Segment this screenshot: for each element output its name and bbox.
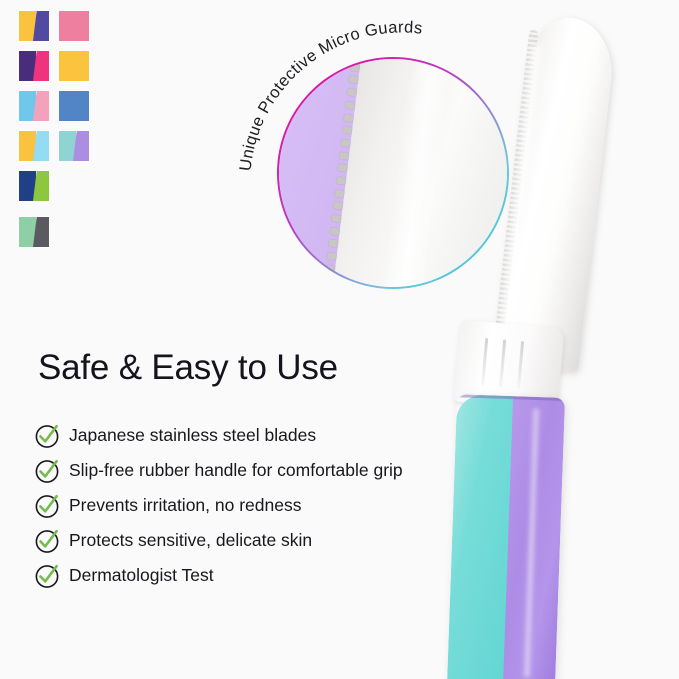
- swatch-right-fill: [33, 91, 49, 121]
- swatch-right-fill: [33, 217, 49, 247]
- micro-guard-bead: [328, 240, 338, 248]
- micro-guard-bead: [333, 202, 343, 210]
- micro-guard-bead: [334, 189, 344, 197]
- check-circle-icon: [34, 458, 60, 484]
- micro-guard-bead: [339, 152, 349, 160]
- swatch-fill: [19, 91, 49, 121]
- swatch-yellow[interactable]: [58, 50, 90, 82]
- swatch-fill: [59, 51, 89, 81]
- razor-product-photo: [440, 0, 679, 679]
- swatch-right-fill: [33, 171, 49, 201]
- micro-guard-bead: [324, 278, 334, 286]
- swatch-mint-grey[interactable]: [18, 216, 50, 248]
- feature-bullet-item: Protects sensitive, delicate skin: [34, 523, 464, 558]
- collar-rib: [481, 338, 488, 386]
- swatch-fill: [59, 11, 89, 41]
- swatch-right-fill: [33, 51, 49, 81]
- micro-guard-bead: [344, 114, 354, 122]
- swatch-steelblue[interactable]: [58, 90, 90, 122]
- check-circle-icon: [34, 563, 60, 589]
- check-circle-icon: [34, 528, 60, 554]
- swatch-right-fill: [33, 131, 49, 161]
- feature-bullet-label: Dermatologist Test: [69, 565, 214, 586]
- collar-rib: [517, 341, 524, 389]
- page-title: Safe & Easy to Use: [38, 348, 338, 388]
- feature-bullet-item: Japanese stainless steel blades: [34, 418, 464, 453]
- feature-bullet-item: Dermatologist Test: [34, 558, 464, 593]
- swatch-yellow-indigo[interactable]: [18, 10, 50, 42]
- swatch-fill: [19, 217, 49, 247]
- feature-bullet-item: Slip-free rubber handle for comfortable …: [34, 453, 464, 488]
- feature-bullet-list: Japanese stainless steel bladesSlip-free…: [34, 418, 464, 593]
- swatch-row: [18, 170, 118, 202]
- swatch-teal-lavender[interactable]: [58, 130, 90, 162]
- swatch-right-fill: [33, 11, 49, 41]
- swatch-yellow-lightblue[interactable]: [18, 130, 50, 162]
- collar-rib: [499, 339, 506, 387]
- swatch-row: [18, 10, 118, 42]
- micro-guard-bead: [331, 215, 341, 223]
- swatch-skyblue-pink[interactable]: [18, 90, 50, 122]
- feature-bullet-label: Japanese stainless steel blades: [69, 425, 316, 446]
- swatch-solid-fill: [59, 91, 89, 121]
- swatch-fill: [19, 131, 49, 161]
- swatch-solid-fill: [59, 11, 89, 41]
- feature-bullet-label: Slip-free rubber handle for comfortable …: [69, 460, 403, 481]
- feature-bullet-label: Protects sensitive, delicate skin: [69, 530, 312, 551]
- swatch-darkpurple-magenta[interactable]: [18, 50, 50, 82]
- swatch-fill: [59, 131, 89, 161]
- swatch-fill: [19, 51, 49, 81]
- check-circle-icon: [34, 493, 60, 519]
- swatch-row: [18, 216, 118, 248]
- micro-guard-bead: [325, 265, 335, 273]
- swatch-row: [18, 90, 118, 122]
- micro-guard-bead: [336, 177, 346, 185]
- swatch-navy-lime[interactable]: [18, 170, 50, 202]
- swatch-fill: [19, 171, 49, 201]
- micro-guard-bead: [330, 227, 340, 235]
- swatch-pink[interactable]: [58, 10, 90, 42]
- micro-guard-bead: [327, 252, 337, 260]
- micro-guard-bead: [348, 76, 358, 84]
- product-feature-image: Unique Protective Micro Guards Safe & Ea…: [0, 0, 679, 679]
- swatch-row: [18, 50, 118, 82]
- swatch-solid-fill: [59, 51, 89, 81]
- check-circle-icon: [34, 423, 60, 449]
- swatch-row: [18, 130, 118, 162]
- micro-guard-bead: [342, 126, 352, 134]
- micro-guard-bead: [347, 89, 357, 97]
- micro-guard-bead: [350, 63, 360, 71]
- micro-guard-bead: [338, 164, 348, 172]
- micro-guard-bead: [345, 101, 355, 109]
- micro-guard-bead: [341, 139, 351, 147]
- swatch-right-fill: [73, 131, 89, 161]
- feature-bullet-label: Prevents irritation, no redness: [69, 495, 301, 516]
- razor-handle: [447, 394, 565, 679]
- swatch-fill: [59, 91, 89, 121]
- feature-bullet-item: Prevents irritation, no redness: [34, 488, 464, 523]
- swatch-fill: [19, 11, 49, 41]
